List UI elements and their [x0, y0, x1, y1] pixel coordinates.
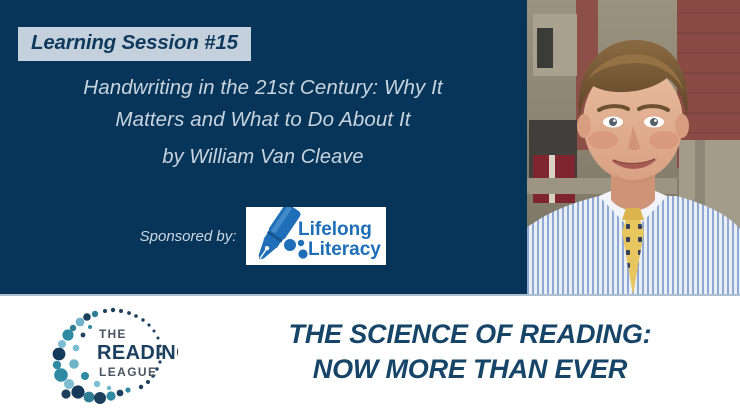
- league-logo-line-1: THE: [99, 327, 127, 341]
- league-logo-line-2: READING: [97, 342, 178, 364]
- footer-tagline-line-2: NOW MORE THAN EVER: [215, 352, 725, 387]
- sponsor-row: Sponsored by:: [8, 207, 518, 265]
- session-badge: Learning Session #15: [18, 27, 251, 61]
- speaker-headshot: [527, 0, 740, 295]
- footer-tagline: THE SCIENCE OF READING: NOW MORE THAN EV…: [215, 317, 725, 387]
- session-title-block: Handwriting in the 21st Century: Why It …: [8, 72, 518, 173]
- svg-text:Literacy: Literacy: [308, 239, 381, 260]
- presentation-slide: Learning Session #15 Handwriting in the …: [0, 0, 740, 420]
- session-title-line-2: Matters and What to Do About It: [8, 104, 518, 136]
- title-panel: Learning Session #15 Handwriting in the …: [0, 0, 740, 295]
- league-logo-line-3: LEAGUE: [99, 365, 157, 379]
- footer-tagline-line-1: THE SCIENCE OF READING:: [215, 317, 725, 352]
- lifelong-literacy-logo: Lifelong Literacy: [246, 207, 386, 265]
- svg-text:Lifelong: Lifelong: [298, 219, 372, 240]
- the-reading-league-logo: THE READING LEAGUE: [43, 302, 178, 407]
- sponsor-label: Sponsored by:: [140, 228, 237, 245]
- session-byline: by William Van Cleave: [8, 142, 518, 173]
- session-title-line-1: Handwriting in the 21st Century: Why It: [8, 72, 518, 104]
